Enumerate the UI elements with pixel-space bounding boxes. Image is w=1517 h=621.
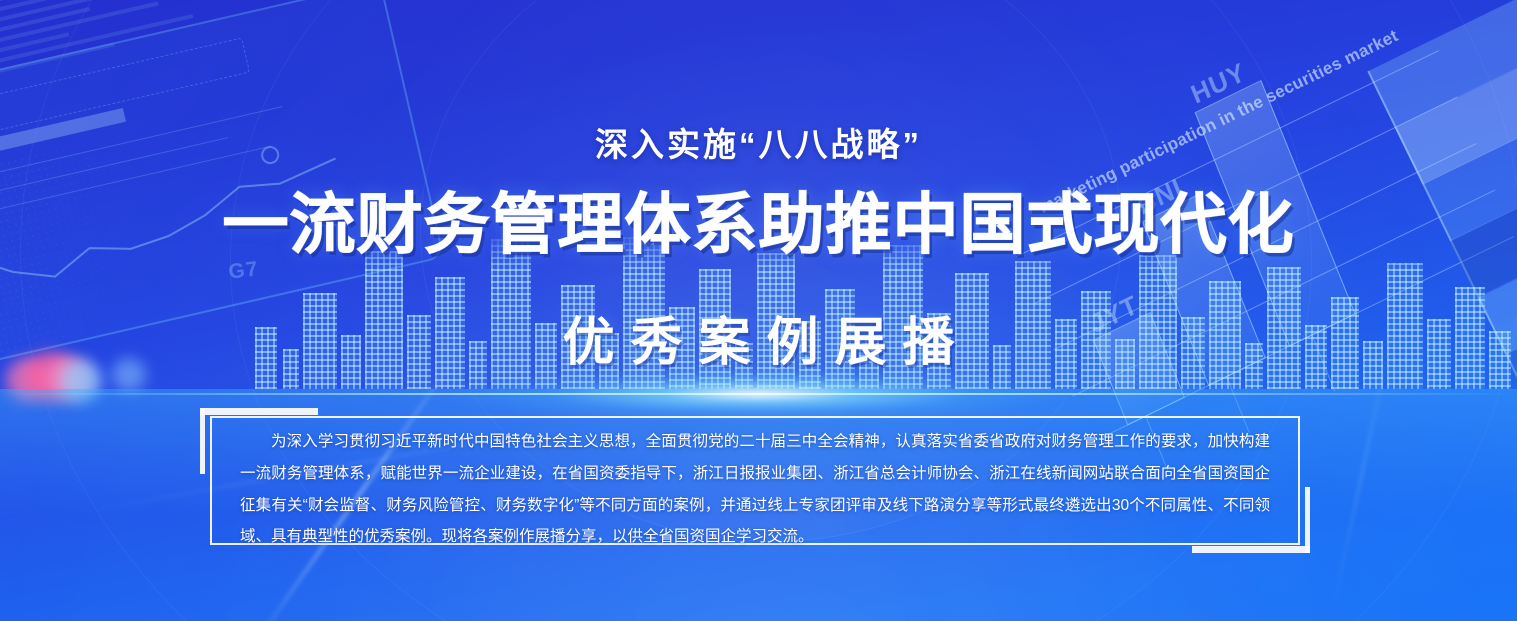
- description-frame: 为深入学习贯彻习近平新时代中国特色社会主义思想，全面贯彻党的二十届三中全会精神，…: [200, 408, 1310, 553]
- frame-corner-bottom-right-vertical: [1305, 487, 1310, 553]
- banner-eyebrow: 深入实施“八八战略”: [0, 118, 1517, 166]
- banner-headline: 一流财务管理体系助推中国式现代化: [0, 186, 1517, 263]
- banner-content: 深入实施“八八战略” 一流财务管理体系助推中国式现代化 优秀案例展播 为深入学习…: [0, 0, 1517, 621]
- frame-corner-top-left-horizontal: [200, 408, 318, 415]
- frame-corner-top-left-vertical: [200, 408, 205, 474]
- description-paragraph: 为深入学习贯彻习近平新时代中国特色社会主义思想，全面贯彻党的二十届三中全会精神，…: [240, 426, 1270, 553]
- promo-banner: G7 JYT BNI HUY marketing participation i…: [0, 0, 1517, 621]
- banner-subline: 优秀案例展播: [0, 300, 1517, 375]
